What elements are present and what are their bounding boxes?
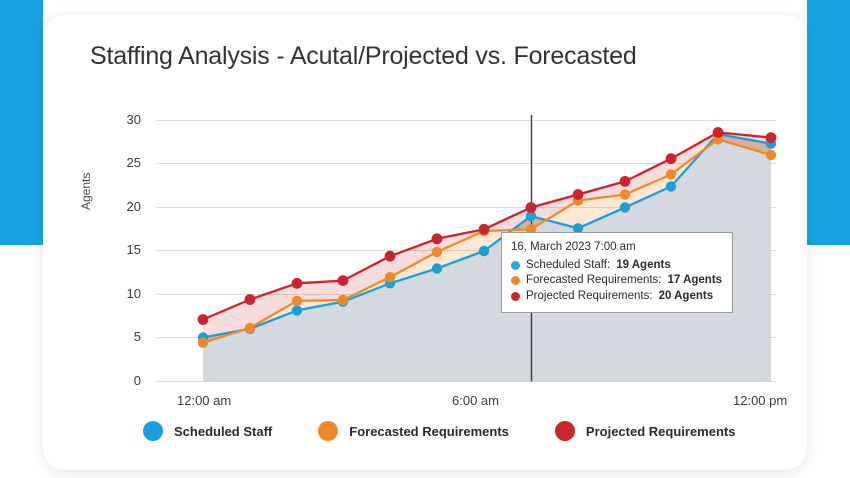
tooltip-row-projected-requirements: Projected Requirements: 20 Agents	[511, 289, 722, 305]
tooltip-value-forecasted-requirements: 17 Agents	[668, 273, 723, 289]
legend-item-forecasted-requirements[interactable]: Forecasted Requirements	[318, 421, 509, 441]
chart-card: Staffing Analysis - Acutal/Projected vs.…	[43, 15, 807, 470]
screenshot-root: Staffing Analysis - Acutal/Projected vs.…	[0, 0, 850, 478]
y-axis-tick-5: 5	[101, 329, 141, 344]
x-axis-tick-12pm: 12:00 pm	[733, 393, 787, 408]
x-axis-tick-6am: 6:00 am	[452, 393, 499, 408]
x-axis-tick-12am: 12:00 am	[177, 393, 231, 408]
chart-plot-area: Agents 30 25 20 15 10 5 0 12:00 am 6:00 …	[43, 15, 807, 470]
legend-label-scheduled-staff: Scheduled Staff	[174, 424, 272, 439]
decorative-band-left	[0, 0, 43, 245]
y-axis-tick-10: 10	[101, 286, 141, 301]
y-axis-title: Agents	[79, 173, 93, 210]
chart-tooltip: 16, March 2023 7:00 am Scheduled Staff: …	[501, 232, 733, 313]
tooltip-label-projected-requirements: Projected Requirements:	[526, 289, 653, 305]
legend-label-projected-requirements: Projected Requirements	[586, 424, 736, 439]
legend-item-scheduled-staff[interactable]: Scheduled Staff	[143, 421, 272, 441]
y-axis-tick-25: 25	[101, 155, 141, 170]
y-axis-tick-15: 15	[101, 242, 141, 257]
tooltip-row-scheduled-staff: Scheduled Staff: 19 Agents	[511, 258, 722, 274]
tooltip-value-scheduled-staff: 19 Agents	[616, 258, 671, 274]
legend-dot-projected-requirements-icon	[555, 421, 575, 441]
y-axis-tick-30: 30	[101, 112, 141, 127]
tooltip-dot-projected-requirements-icon	[511, 292, 520, 301]
y-axis-tick-0: 0	[101, 373, 141, 388]
legend-label-forecasted-requirements: Forecasted Requirements	[349, 424, 509, 439]
tooltip-date: 16, March 2023 7:00 am	[511, 240, 722, 256]
tooltip-label-scheduled-staff: Scheduled Staff:	[526, 258, 610, 274]
legend-dot-forecasted-requirements-icon	[318, 421, 338, 441]
chart-legend: Scheduled Staff Forecasted Requirements …	[143, 421, 763, 441]
tooltip-row-forecasted-requirements: Forecasted Requirements: 17 Agents	[511, 273, 722, 289]
tooltip-dot-scheduled-staff-icon	[511, 261, 520, 270]
legend-dot-scheduled-staff-icon	[143, 421, 163, 441]
tooltip-value-projected-requirements: 20 Agents	[659, 289, 714, 305]
decorative-band-right	[807, 0, 850, 245]
y-axis-tick-20: 20	[101, 199, 141, 214]
tooltip-label-forecasted-requirements: Forecasted Requirements:	[526, 273, 662, 289]
tooltip-dot-forecasted-requirements-icon	[511, 276, 520, 285]
legend-item-projected-requirements[interactable]: Projected Requirements	[555, 421, 736, 441]
